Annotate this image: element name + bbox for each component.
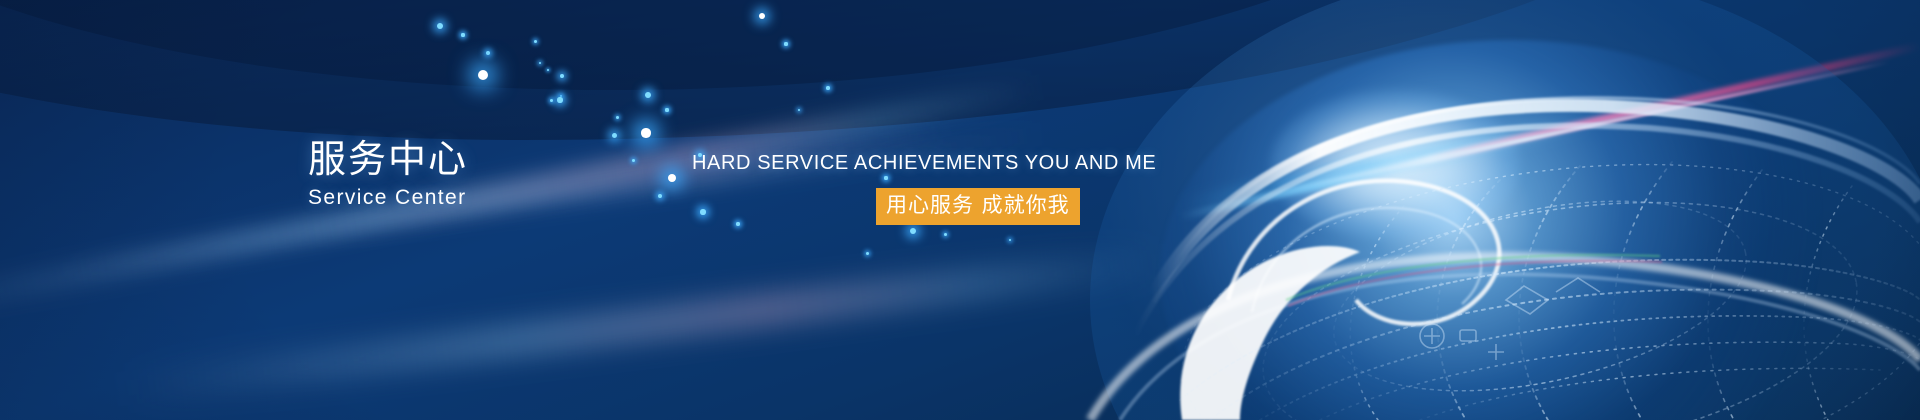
badge-row: 用心服务 成就你我 — [692, 188, 1156, 225]
tagline-block: HARD SERVICE ACHIEVEMENTS YOU AND ME 用心服… — [692, 152, 1156, 225]
glow-particle — [910, 228, 916, 234]
glow-particle — [668, 174, 676, 182]
page-title-en: Service Center — [308, 186, 468, 210]
glow-particle — [826, 86, 830, 90]
glow-particle — [1009, 239, 1012, 242]
glow-particle — [658, 194, 662, 198]
glow-particle — [616, 116, 619, 119]
glow-particle — [798, 109, 801, 112]
glow-particle — [866, 252, 869, 255]
glow-particle — [550, 99, 553, 102]
glow-particle — [645, 92, 651, 98]
glow-particle — [944, 233, 947, 236]
glow-particle — [560, 95, 563, 98]
glow-particle — [612, 133, 617, 138]
glow-particle — [557, 97, 562, 102]
service-center-banner: 服务中心 Service Center HARD SERVICE ACHIEVE… — [0, 0, 1920, 420]
glow-particle — [641, 128, 650, 137]
tagline-english: HARD SERVICE ACHIEVEMENTS YOU AND ME — [692, 152, 1156, 175]
glow-particle — [632, 159, 635, 162]
glow-particle — [665, 108, 668, 111]
heading-block: 服务中心 Service Center — [308, 140, 468, 210]
page-title-cn: 服务中心 — [308, 140, 468, 180]
tagline-badge-cn: 用心服务 成就你我 — [876, 188, 1080, 225]
